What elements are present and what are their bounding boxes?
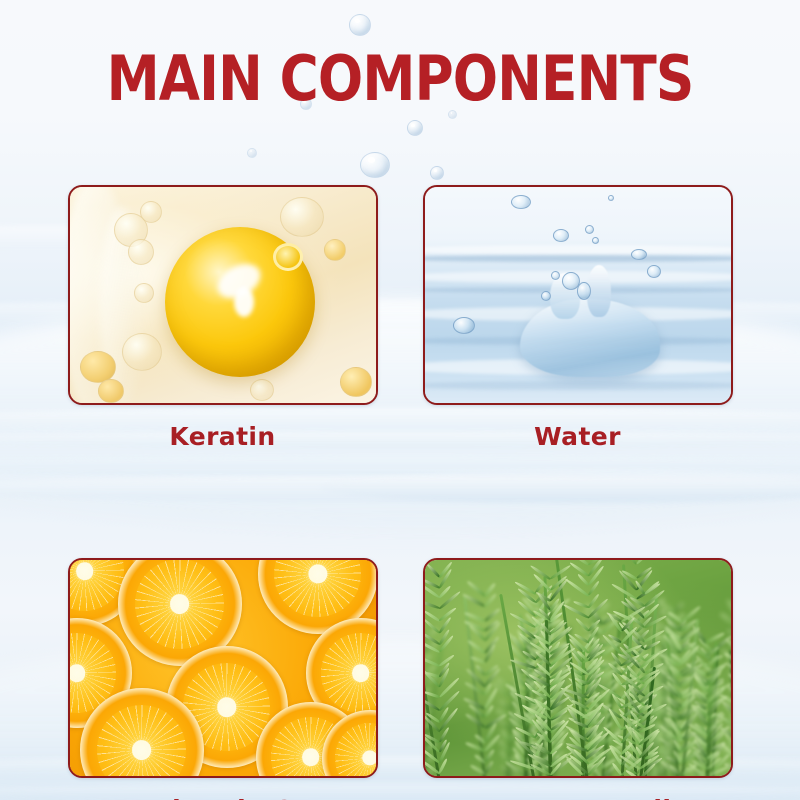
- background-bubble: [430, 166, 444, 180]
- water-splash: [520, 299, 660, 377]
- water-bubble: [592, 237, 599, 244]
- background-bubble: [360, 152, 390, 178]
- water-bubble: [511, 195, 531, 209]
- component-label: Rosemary oil: [423, 795, 733, 800]
- water-bubble: [551, 271, 560, 280]
- component-card-rosemary-oil[interactable]: Rosemary oil: [423, 558, 733, 800]
- component-label: Vitamin C: [68, 795, 378, 800]
- rosemary-plant-photo: [425, 560, 731, 776]
- water-bubble: [585, 225, 594, 234]
- background-bubble: [407, 120, 423, 136]
- background-bubble: [247, 148, 257, 158]
- rosemary-needle: [425, 598, 441, 610]
- component-label: Water: [423, 422, 733, 451]
- rosemary-needle: [635, 560, 656, 566]
- rosemary-needle: [573, 600, 589, 609]
- water-splash-photo: [425, 187, 731, 403]
- water-bubble: [553, 229, 569, 242]
- water-bubble: [541, 291, 551, 301]
- main-components-poster: MAIN COMPONENTS: [0, 0, 800, 800]
- component-card-water[interactable]: Water: [423, 185, 733, 451]
- water-bubble: [577, 282, 591, 300]
- component-image-frame[interactable]: [68, 185, 378, 405]
- water-bubble: [631, 249, 647, 260]
- orange-slices-photo: [70, 560, 376, 776]
- component-card-vitamin-c[interactable]: Vitamin C: [68, 558, 378, 800]
- component-card-keratin[interactable]: Keratin: [68, 185, 378, 451]
- component-image-frame[interactable]: [423, 558, 733, 778]
- water-bubble: [647, 265, 661, 278]
- water-bubble: [608, 195, 614, 201]
- component-label: Keratin: [68, 422, 378, 451]
- golden-oil-droplet-photo: [70, 187, 376, 403]
- components-grid: Keratin: [0, 185, 800, 800]
- rosemary-needle: [530, 564, 552, 581]
- background-bubble: [349, 14, 371, 36]
- water-bubble: [453, 317, 475, 334]
- rosemary-needle: [719, 612, 731, 628]
- oil-droplet: [165, 227, 315, 377]
- page-title: MAIN COMPONENTS: [56, 48, 744, 110]
- component-image-frame[interactable]: [423, 185, 733, 405]
- component-image-frame[interactable]: [68, 558, 378, 778]
